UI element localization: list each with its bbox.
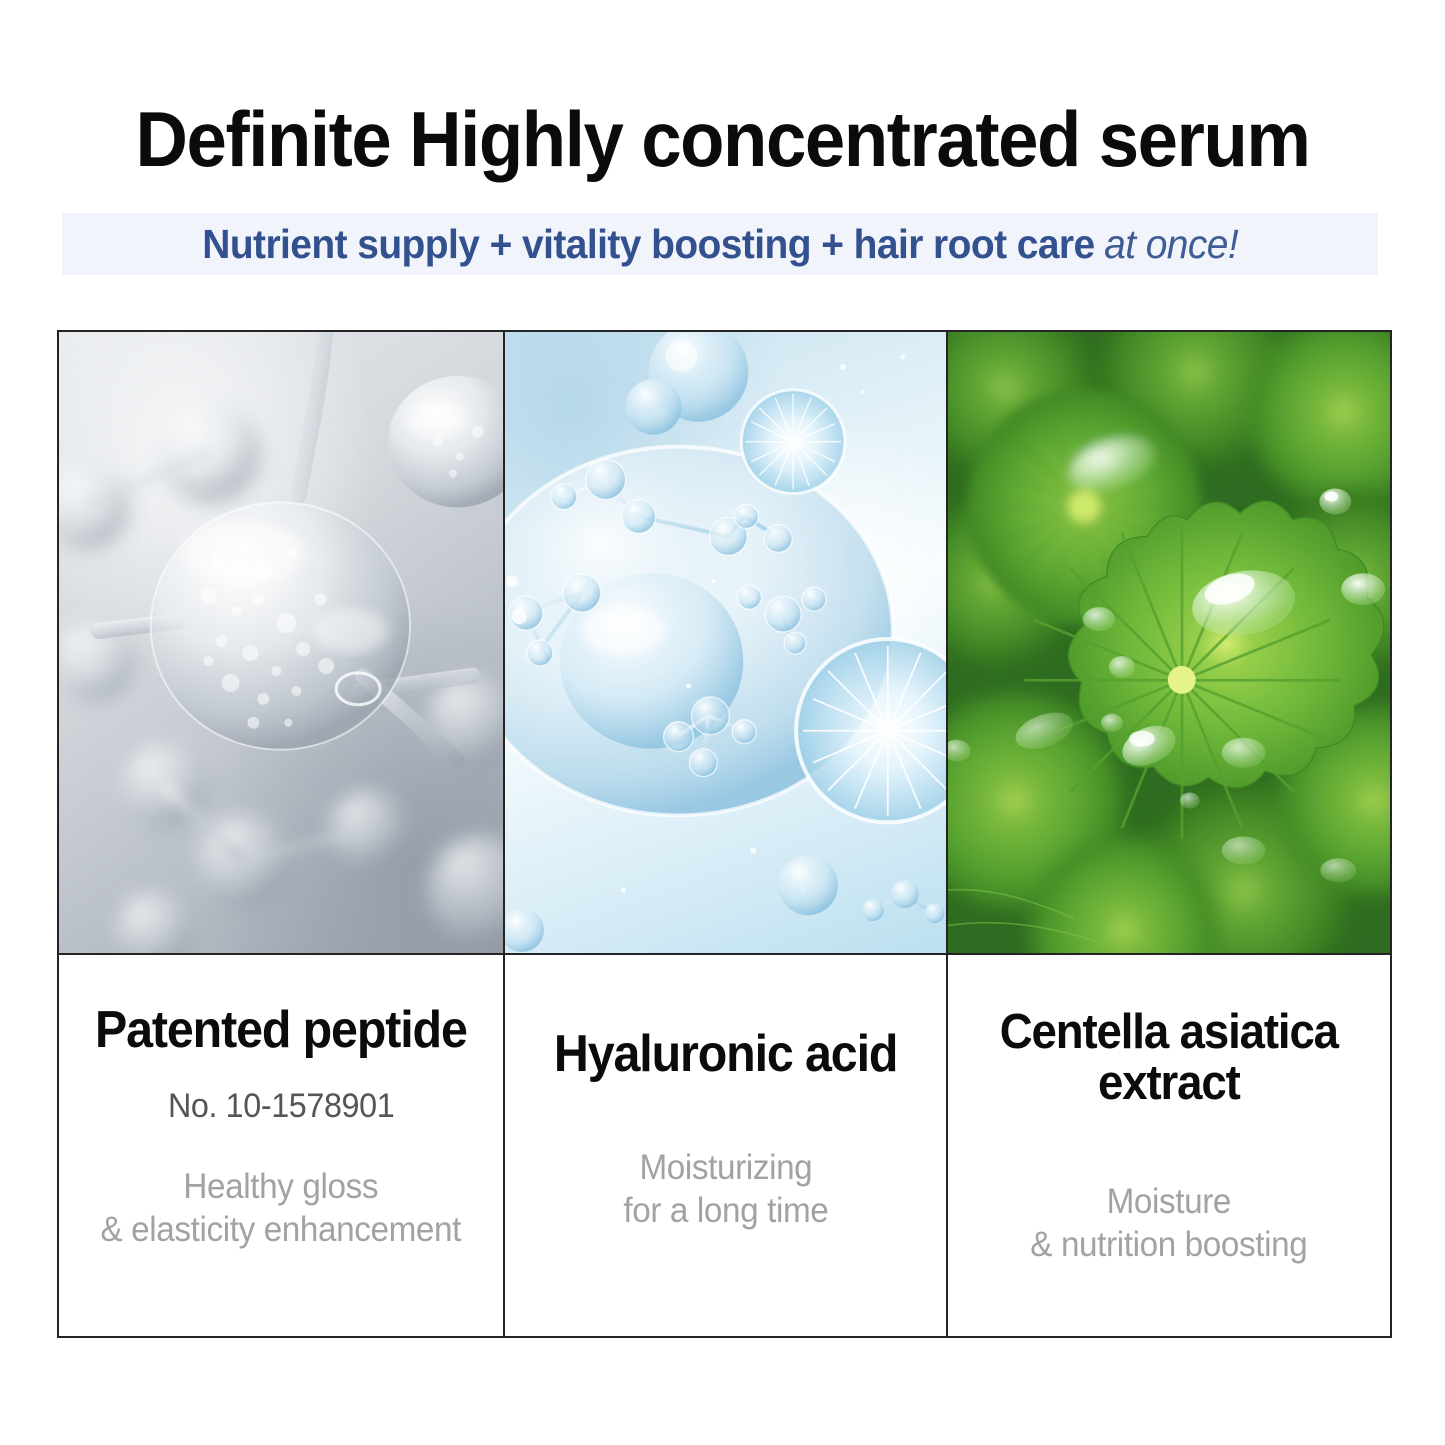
centella-title: Centella asiatica extract [1000, 1007, 1338, 1109]
centella-title-line-2: extract [1000, 1058, 1338, 1109]
hyaluronic-caption: Hyaluronic acid Moisturizing for a long … [505, 955, 947, 1336]
hyaluronic-title: Hyaluronic acid [554, 1027, 897, 1081]
subtitle-inner: Nutrient supply + vitality boosting + ha… [202, 220, 1238, 268]
peptide-patent-number: No. 10-1578901 [168, 1087, 394, 1126]
centella-description: Moisture & nutrition boosting [1031, 1181, 1308, 1266]
ingredient-column-centella: Centella asiatica extract Moisture & nut… [946, 332, 1390, 1336]
product-info-card: Definite Highly concentrated serum Nutri… [0, 0, 1445, 1445]
peptide-description-line-1: Healthy gloss [101, 1166, 462, 1209]
ingredient-grid: Patented peptide No. 10-1578901 Healthy … [57, 330, 1392, 1338]
hyaluronic-water-image [505, 332, 947, 955]
centella-title-line-1: Centella asiatica [1000, 1007, 1338, 1058]
subtitle-band: Nutrient supply + vitality boosting + ha… [62, 213, 1378, 275]
subtitle-strong: Nutrient supply + vitality boosting + ha… [202, 220, 1094, 268]
hyaluronic-description-line-2: for a long time [623, 1190, 828, 1233]
peptide-description-line-2: & elasticity enhancement [101, 1209, 462, 1252]
hyaluronic-description: Moisturizing for a long time [623, 1147, 828, 1232]
pennywort-leaves-illustration [948, 332, 1390, 953]
centella-leaves-image [948, 332, 1390, 955]
centella-description-line-2: & nutrition boosting [1031, 1224, 1308, 1267]
water-bubbles-illustration [505, 332, 947, 953]
hyaluronic-description-line-1: Moisturizing [623, 1147, 828, 1190]
centella-caption: Centella asiatica extract Moisture & nut… [948, 955, 1390, 1336]
ingredient-column-peptide: Patented peptide No. 10-1578901 Healthy … [59, 332, 503, 1336]
subtitle-light: at once! [1104, 220, 1238, 268]
page-title: Definite Highly concentrated serum [51, 96, 1395, 182]
peptide-description: Healthy gloss & elasticity enhancement [101, 1166, 462, 1251]
centella-description-line-1: Moisture [1031, 1181, 1308, 1224]
peptide-molecule-image [59, 332, 503, 955]
peptide-caption: Patented peptide No. 10-1578901 Healthy … [59, 955, 503, 1336]
molecule-spheres-illustration [59, 332, 503, 953]
ingredient-column-hyaluronic: Hyaluronic acid Moisturizing for a long … [503, 332, 947, 1336]
peptide-title: Patented peptide [95, 1003, 467, 1057]
